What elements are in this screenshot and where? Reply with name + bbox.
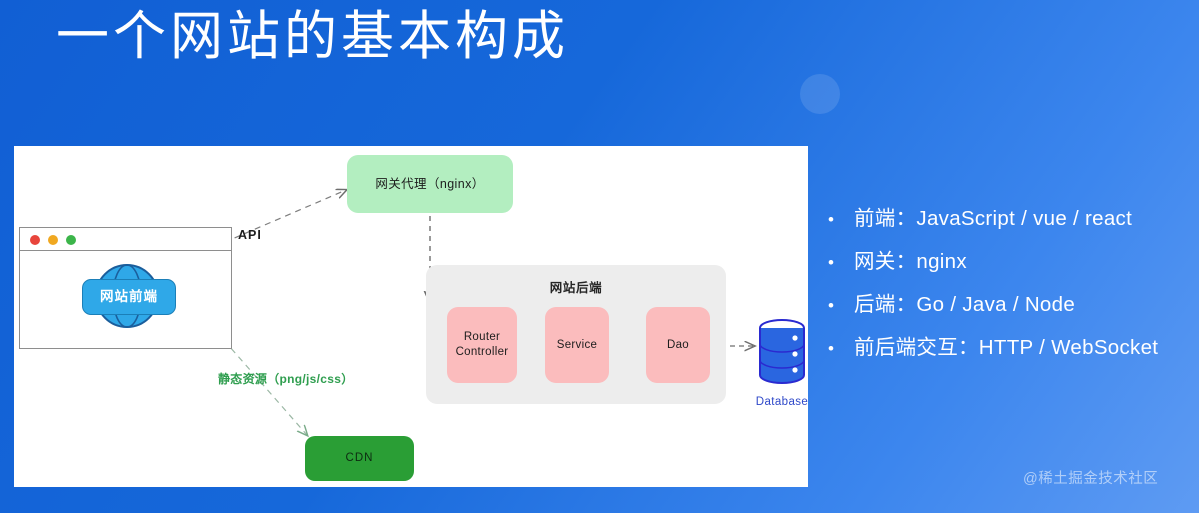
slide-root: 一个网站的基本构成	[0, 0, 1199, 513]
api-edge-label: API	[238, 228, 262, 242]
decorative-circle	[800, 74, 840, 114]
browser-titlebar	[20, 228, 231, 251]
backend-node-router-controller: Router Controller	[447, 307, 517, 383]
list-item: • 后端：Go / Java / Node	[828, 284, 1193, 327]
list-item: • 前后端交互：HTTP / WebSocket	[828, 327, 1193, 370]
list-item: • 前端：JavaScript / vue / react	[828, 198, 1193, 241]
router-line2: Controller	[456, 346, 509, 358]
bullet-dot-icon: •	[828, 327, 854, 370]
bullet-dot-icon: •	[828, 241, 854, 284]
browser-close-dot-icon	[30, 235, 40, 245]
static-resources-edge-label: 静态资源（png/js/css）	[218, 370, 354, 387]
router-line1: Router	[464, 331, 500, 343]
watermark: @稀土掘金技术社区	[1023, 467, 1158, 488]
browser-minimize-dot-icon	[48, 235, 58, 245]
bullet-text: 网关：nginx	[854, 244, 967, 274]
backend-node-service: Service	[545, 307, 609, 383]
backend-node-dao: Dao	[646, 307, 710, 383]
bullet-dot-icon: •	[828, 198, 854, 241]
browser-window-mock: 网站前端	[19, 227, 232, 349]
bullet-text: 前端：JavaScript / vue / react	[854, 201, 1132, 231]
backend-group: 网站后端 Router Controller Service Dao	[426, 265, 726, 404]
bullet-text: 前后端交互：HTTP / WebSocket	[854, 330, 1158, 360]
gateway-node: 网关代理（nginx）	[347, 155, 513, 213]
bullet-text: 后端：Go / Java / Node	[854, 287, 1075, 317]
backend-group-label: 网站后端	[426, 277, 726, 296]
diagram-panel: 网站前端 API 网关代理（nginx） 网站后端 Router Control…	[14, 146, 808, 487]
cdn-node: CDN	[305, 436, 414, 481]
bullet-dot-icon: •	[828, 284, 854, 327]
browser-maximize-dot-icon	[66, 235, 76, 245]
page-title: 一个网站的基本构成	[56, 6, 569, 68]
database-icon	[755, 318, 809, 386]
frontend-badge: 网站前端	[82, 279, 176, 315]
bullet-list: • 前端：JavaScript / vue / react • 网关：nginx…	[828, 198, 1193, 370]
database-label: Database	[740, 396, 824, 408]
list-item: • 网关：nginx	[828, 241, 1193, 284]
